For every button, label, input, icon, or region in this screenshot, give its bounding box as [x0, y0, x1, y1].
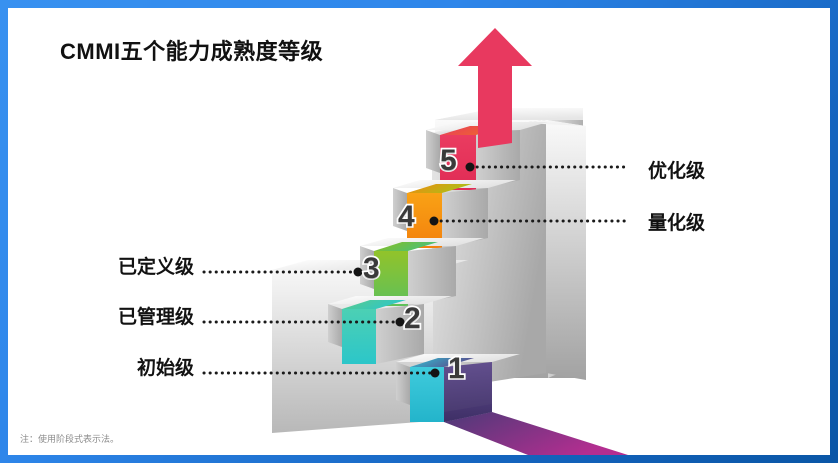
level-label-2: 已管理级	[8, 302, 194, 329]
level-label-1: 初始级	[8, 353, 194, 380]
footnote: 注：使用阶段式表示法。	[20, 432, 119, 445]
step-number-4: 4	[398, 200, 415, 234]
step-number-2: 2	[404, 302, 421, 336]
slide-frame: CMMI五个能力成熟度等级	[0, 0, 838, 463]
staircase-diagram	[8, 8, 830, 455]
level-label-4: 量化级	[648, 208, 705, 235]
level-label-5: 优化级	[648, 156, 705, 183]
step-number-1: 1	[448, 352, 465, 386]
step-number-5: 5	[440, 144, 457, 178]
level-label-3: 已定义级	[8, 252, 194, 279]
step-number-3: 3	[363, 252, 380, 286]
slide-canvas: CMMI五个能力成熟度等级	[8, 8, 830, 455]
